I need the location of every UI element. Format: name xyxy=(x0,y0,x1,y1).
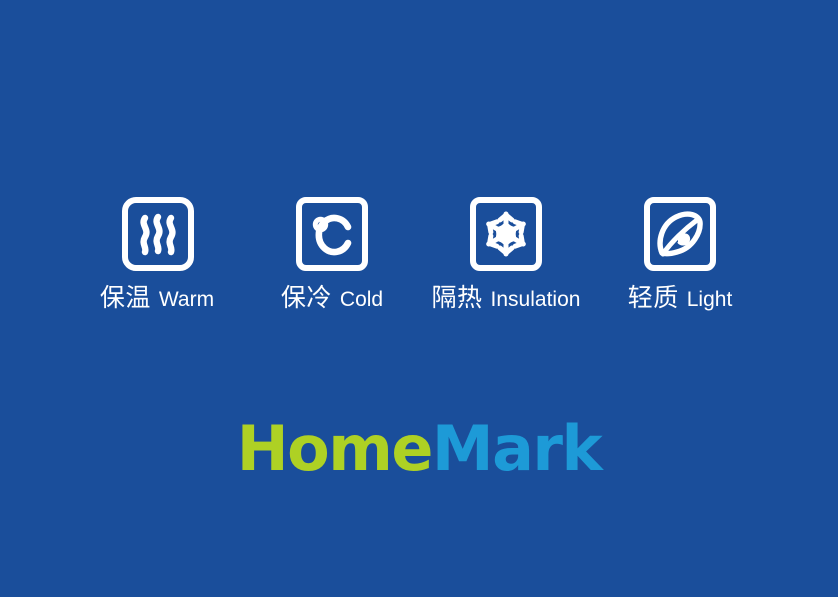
feature-label-cn: 保温 xyxy=(100,286,151,311)
feature-label-cn: 轻质 xyxy=(628,286,679,311)
feature-caption: 隔热 Insulation xyxy=(432,286,581,311)
feather-leaf-icon xyxy=(643,196,717,272)
snowflake-icon xyxy=(469,196,543,272)
feature-list: 保温 Warm 保冷 Cold xyxy=(0,196,838,311)
feature-item-light: 轻质 Light xyxy=(593,196,767,311)
feature-item-insulation: 隔热 Insulation xyxy=(419,196,593,311)
feature-item-cold: 保冷 Cold xyxy=(245,196,419,311)
heat-waves-icon xyxy=(121,196,195,272)
feature-label-en: Light xyxy=(687,289,733,310)
poster-canvas: 保温 Warm 保冷 Cold xyxy=(0,0,838,597)
feature-caption: 保温 Warm xyxy=(100,286,214,311)
feature-label-en: Cold xyxy=(340,289,383,310)
feature-label-cn: 隔热 xyxy=(432,286,483,311)
feature-caption: 轻质 Light xyxy=(628,286,733,311)
logo-text-mark: Mark xyxy=(432,412,601,485)
feature-label-en: Insulation xyxy=(491,289,581,310)
feature-label-cn: 保冷 xyxy=(281,286,332,311)
celsius-degree-icon xyxy=(295,196,369,272)
feature-label-en: Warm xyxy=(159,289,214,310)
brand-logo: HomeMark xyxy=(0,418,838,480)
feature-item-warm: 保温 Warm xyxy=(71,196,245,311)
feature-caption: 保冷 Cold xyxy=(281,286,383,311)
logo-text-home: Home xyxy=(237,412,432,485)
